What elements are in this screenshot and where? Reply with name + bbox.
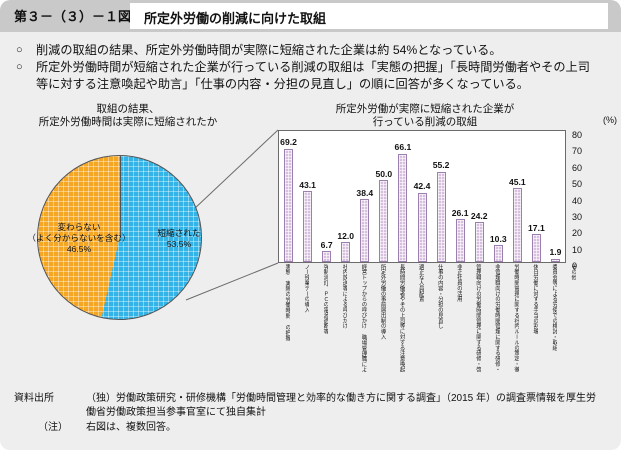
bar-6 [398, 154, 407, 262]
bar-5 [379, 180, 388, 262]
bar-chart-title: 所定外労働が実際に短縮された企業が 行っている削減の取組 [300, 103, 550, 129]
note-text: 右図は、複数回答。 [86, 421, 610, 435]
bar-8 [437, 172, 446, 262]
pie-slice-value-unchanged: 46.5% [14, 244, 144, 255]
figure-title-box: 所定外労働の削減に向けた取組 [130, 3, 608, 29]
bar-value-label-7: 42.4 [408, 181, 436, 191]
bar-2 [322, 251, 331, 262]
bar-value-label-12: 45.1 [503, 177, 531, 187]
bar-value-label-0: 69.2 [275, 137, 303, 147]
bar-value-label-8: 55.2 [427, 160, 455, 170]
bar-0 [284, 149, 293, 262]
bar-7 [418, 193, 427, 262]
pie-chart-title-line2: 所定外労働時間は実際に短縮されたか [28, 116, 228, 129]
bar-chart-x-axis-labels: 実態 実際の労働時間 の把握ノー残業デーの導入強制消灯、ＰＣの電源遮断等社内放送… [278, 264, 566, 376]
x-axis-label-9: 非正社員の活用 [456, 264, 462, 372]
y-axis-tick-70: 70 [572, 146, 582, 156]
x-axis-label-4: 経営トップからの呼びかけ 職場管理職による働きかけ [360, 264, 366, 372]
pie-chart-title-line1: 取組の結果、 [28, 103, 228, 116]
bar-value-label-10: 24.2 [465, 211, 493, 221]
bar-chart-y-axis: 80706050403020100 [568, 122, 618, 272]
x-axis-label-13: 休日労働に対する手当の割増 [532, 264, 538, 372]
bar-10 [475, 222, 484, 262]
x-axis-label-12: 労働時間管理に関する社内ルールの策定・徹底 [513, 264, 519, 372]
source-text-line2: 働省労働政策担当参事官室にて独自集計 [86, 406, 610, 420]
bar-value-label-13: 17.1 [522, 223, 550, 233]
x-axis-label-3: 社内放送等による呼びかけ [341, 264, 347, 372]
bullet-text: 所定外労働時間が短縮された企業が行っている削減の取組は「実態の把握」「長時間労働… [36, 59, 611, 76]
source-text-line1: （独）労働政策研究・研修機構「労働時間管理と効率的な働き方に関する調査」（201… [86, 392, 610, 406]
y-axis-tick-30: 30 [572, 212, 582, 222]
bar-4 [360, 199, 369, 262]
bar-value-label-2: 6.7 [313, 240, 341, 250]
bar-chart-title-line2: 行っている削減の取組 [300, 116, 550, 129]
bar-value-label-3: 12.0 [332, 231, 360, 241]
figure-panel: 第３－（３）－１図 所定外労働の削減に向けた取組 ○ 削減の取組の結果、所定外労… [0, 0, 621, 450]
note-label: （注） [14, 421, 86, 435]
bar-value-label-4: 38.4 [351, 188, 379, 198]
x-axis-label-10: 管理職向けの労働時間管理に関する研修・啓発 [475, 264, 481, 372]
bar-value-label-1: 43.1 [294, 180, 322, 190]
figure-number: 第３－（３）－１図 [14, 6, 131, 25]
bullet-marker: ○ [16, 42, 36, 59]
bar-11 [494, 245, 503, 262]
x-axis-label-0: 実態 実際の労働時間 の把握 [284, 264, 290, 372]
y-axis-tick-40: 40 [572, 196, 582, 206]
bullet-marker: ○ [16, 59, 36, 76]
source-note: 資料出所 （独）労働政策研究・研修機構「労働時間管理と効率的な働き方に関する調査… [14, 392, 610, 420]
bar-value-label-11: 10.3 [484, 234, 512, 244]
bar-chart-plot-area: 69.243.16.712.038.450.066.142.455.226.12… [278, 130, 566, 263]
bar-12 [513, 188, 522, 262]
x-axis-label-11: 非管理職向けの労働時間管理に関する研修・啓発 [494, 264, 500, 372]
x-axis-label-6: 長時間労働者やその上司等に対する注意喚起や助言 [398, 264, 404, 372]
summary-bullets: ○ 削減の取組の結果、所定外労働時間が実際に短縮された企業は約 54%となってい… [16, 42, 611, 93]
pie-slice-label-unchanged-line1: 変わらない [14, 222, 144, 233]
figure-header: 第３－（３）－１図 所定外労働の削減に向けた取組 [0, 0, 621, 32]
bar-9 [456, 219, 465, 262]
y-axis-tick-60: 60 [572, 163, 582, 173]
pie-slice-value-shortened: 53.5% [140, 239, 218, 250]
x-axis-label-7: 適正な人員配置 [418, 264, 424, 372]
bullet-item: ○ 削減の取組の結果、所定外労働時間が実際に短縮された企業は約 54%となってい… [16, 42, 611, 59]
x-axis-label-2: 強制消灯、ＰＣの電源遮断等 [322, 264, 328, 372]
bullet-item: ○ 所定外労働時間が短縮された企業が行っている削減の取組は「実態の把握」「長時間… [16, 59, 611, 76]
y-axis-tick-50: 50 [572, 179, 582, 189]
y-axis-tick-80: 80 [572, 130, 582, 140]
page-title: 所定外労働の削減に向けた取組 [144, 8, 326, 27]
y-axis-tick-10: 10 [572, 245, 582, 255]
bar-value-label-6: 66.1 [389, 142, 417, 152]
pie-chart-title: 取組の結果、 所定外労働時間は実際に短縮されたか [28, 103, 228, 129]
bar-3 [341, 242, 350, 262]
bar-14 [551, 259, 560, 262]
bar-1 [303, 191, 312, 262]
pie-slice-label-unchanged-line2: （よく分からないを含む） [14, 233, 144, 244]
bar-chart-title-line1: 所定外労働が実際に短縮された企業が [300, 103, 550, 116]
x-axis-label-15: その他 [570, 264, 576, 372]
x-axis-label-1: ノー残業デーの導入 [303, 264, 309, 372]
bar-value-label-14: 1.9 [541, 247, 569, 257]
figure-note: （注） 右図は、複数回答。 [14, 421, 610, 435]
bullet-text: 削減の取組の結果、所定外労働時間が実際に短縮された企業は約 54%となっている。 [36, 42, 611, 59]
bar-chart-bars: 69.243.16.712.038.450.066.142.455.226.12… [279, 131, 565, 262]
x-axis-label-8: 仕事の内容・分担の見直し [437, 264, 443, 372]
pie-slice-label-shortened: 短縮された 53.5% [140, 228, 218, 250]
pie-slice-label-unchanged: 変わらない （よく分からないを含む） 46.5% [14, 222, 144, 255]
pie-slice-label-shortened-text: 短縮された [140, 228, 218, 239]
x-axis-label-14: 委員会等による労使での検討・取組 [551, 264, 557, 372]
source-label: 資料出所 [14, 392, 86, 406]
bullet-text-continued: 等に対する注意喚起や助言」「仕事の内容・分担の見直し」の順に回答が多くなっている… [36, 76, 611, 93]
y-axis-tick-20: 20 [572, 228, 582, 238]
x-axis-label-5: 所定外労働の事前届出制の導入 [379, 264, 385, 372]
bar-value-label-5: 50.0 [370, 169, 398, 179]
bar-13 [532, 234, 541, 262]
